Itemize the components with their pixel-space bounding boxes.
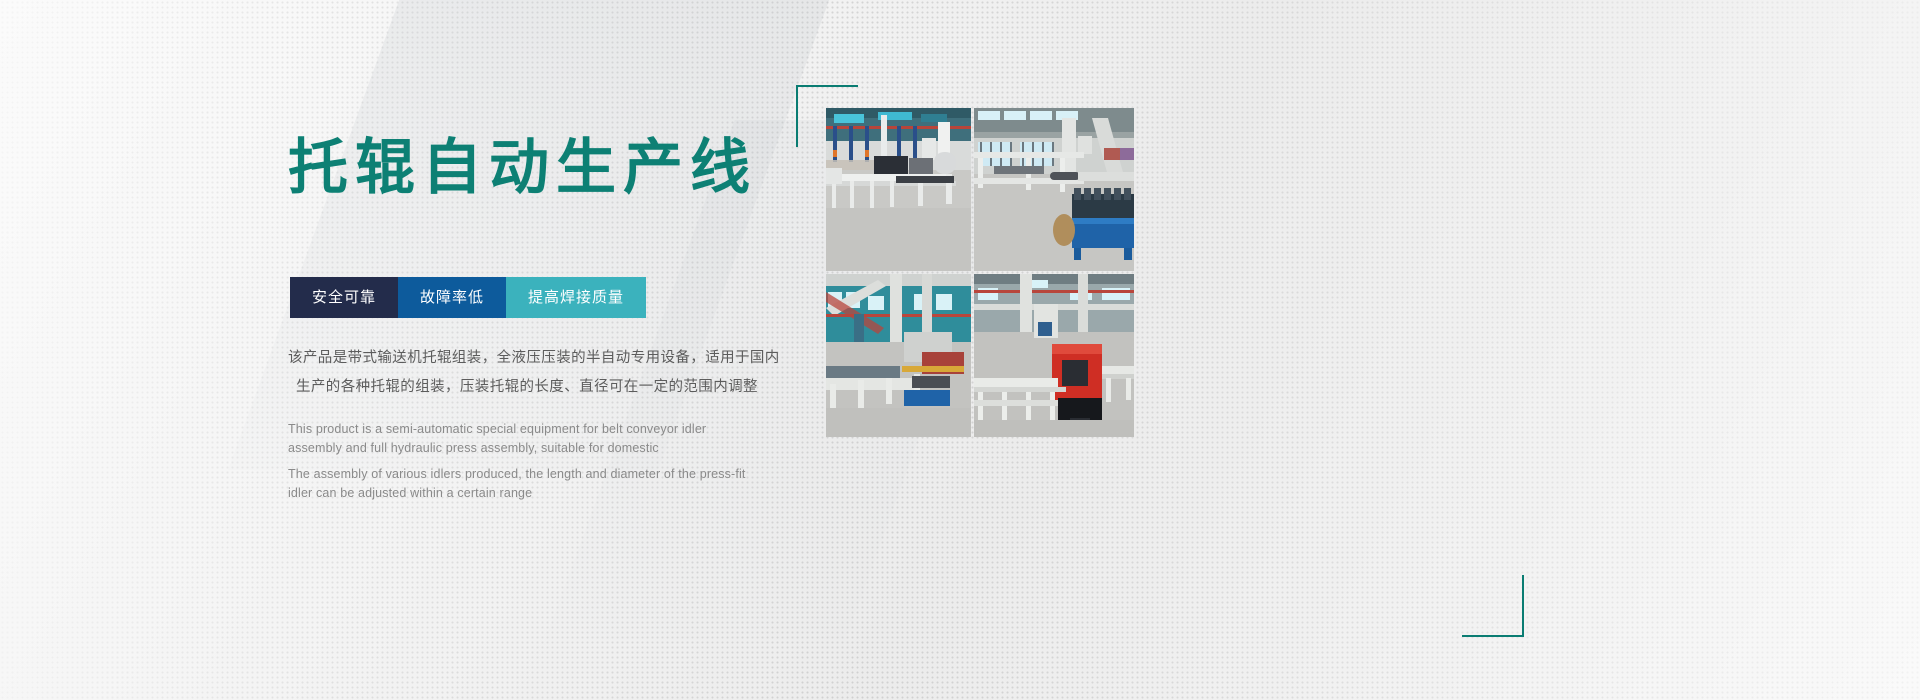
photo-grid — [826, 108, 1134, 437]
photo-machinery-area[interactable] — [826, 274, 971, 437]
photo-conveyor-line-image — [826, 108, 971, 271]
description-english: This product is a semi-automatic special… — [288, 420, 758, 504]
description-english-paragraph-2: The assembly of various idlers produced,… — [288, 465, 758, 504]
photo-red-press[interactable] — [974, 274, 1134, 437]
photo-gallery — [826, 80, 1456, 580]
photo-workshop-crates[interactable] — [974, 108, 1134, 271]
tag-low-failure-rate[interactable]: 故障率低 — [398, 277, 506, 318]
description-english-paragraph-1: This product is a semi-automatic special… — [288, 420, 758, 459]
feature-tag-row: 安全可靠 故障率低 提高焊接质量 — [290, 277, 646, 318]
description-chinese: 该产品是带式输送机托辊组装，全液压压装的半自动专用设备，适用于国内 生产的各种托… — [288, 344, 758, 402]
photo-red-press-image — [974, 274, 1134, 437]
page-title: 托辊自动生产线 — [288, 138, 757, 198]
photo-conveyor-line[interactable] — [826, 108, 971, 271]
photo-machinery-area-image — [826, 274, 971, 437]
tag-improve-weld-quality[interactable]: 提高焊接质量 — [506, 277, 646, 318]
photo-workshop-crates-image — [974, 108, 1134, 271]
description-chinese-line-1: 该产品是带式输送机托辊组装，全液压压装的半自动专用设备，适用于国内 — [288, 344, 758, 373]
description-chinese-line-2: 生产的各种托辊的组装，压装托辊的长度、直径可在一定的范围内调整 — [288, 373, 758, 402]
corner-bracket-bottom-right — [1462, 575, 1524, 637]
tag-safe-reliable[interactable]: 安全可靠 — [290, 277, 398, 318]
product-banner: 托辊自动生产线 安全可靠 故障率低 提高焊接质量 该产品是带式输送机托辊组装，全… — [0, 0, 1920, 700]
